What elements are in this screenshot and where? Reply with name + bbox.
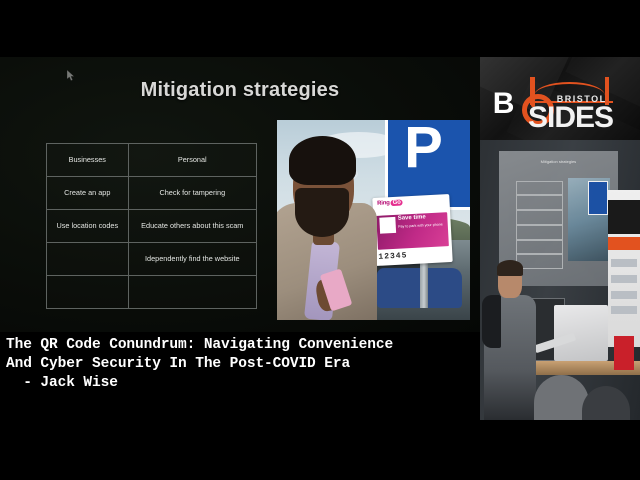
table-row: Use location codes Educate others about … (47, 210, 257, 243)
sponsor-banner (608, 190, 640, 347)
room-camera-view: Mitigation strategies (480, 140, 640, 420)
projected-table-row (516, 195, 563, 210)
table-row: Create an app Check for tampering (47, 177, 257, 210)
video-player-stage: Mitigation strategies Businesses Persona… (0, 0, 640, 480)
projected-parking-sign (588, 181, 608, 215)
caption-line-3: - Jack Wise (0, 374, 480, 393)
banner-row (611, 306, 638, 314)
table-header-personal: Personal (128, 144, 256, 177)
ringgo-brand: RingGo (377, 199, 403, 206)
mouse-cursor-icon (67, 70, 75, 81)
banner-row (611, 275, 638, 283)
ringgo-brand-suffix: Go (390, 199, 402, 206)
projected-table-row (516, 181, 563, 196)
projected-table (516, 181, 563, 270)
person-with-phone (277, 132, 377, 320)
talk-title-caption: The QR Code Conundrum: Navigating Conven… (0, 332, 480, 394)
table-cell (47, 243, 129, 276)
projected-table-row (516, 225, 563, 240)
table-row (47, 276, 257, 309)
caption-line-2: And Cyber Security In The Post-COVID Era (0, 355, 480, 374)
sticker-headline: Save time (397, 214, 425, 221)
table-cell: Create an app (47, 177, 129, 210)
qr-code-icon (379, 217, 395, 233)
ringgo-sticker: RingGo Save time Pay to park with your p… (372, 194, 453, 266)
projected-slide-title: Mitigation strategies (499, 159, 617, 164)
audience-head (534, 375, 588, 420)
projected-photo (568, 178, 611, 261)
banner-header (608, 200, 640, 234)
banner-row (611, 259, 638, 267)
logo-letter-b: B (493, 89, 515, 119)
projected-table-row (516, 210, 563, 225)
mitigation-strategies-table: Businesses Personal Create an app Check … (46, 143, 257, 309)
table-cell: Check for tampering (128, 177, 256, 210)
projected-table-row (516, 240, 563, 255)
table-row: Idependently find the website (47, 243, 257, 276)
table-header-row: Businesses Personal (47, 144, 257, 177)
parking-sign-letter: P (404, 120, 443, 177)
banner-row (611, 291, 638, 299)
sticker-location-code: 12345 (378, 251, 407, 262)
sticker-subtext: Pay to park with your phone (398, 222, 444, 229)
table-cell: Use location codes (47, 210, 129, 243)
table-header-businesses: Businesses (47, 144, 129, 177)
banner-accent-stripe (608, 237, 640, 250)
speaker-person (483, 263, 537, 420)
table-cell (47, 276, 129, 309)
table-cell: Idependently find the website (128, 243, 256, 276)
speaker-sleeve (482, 295, 500, 348)
ringgo-brand-text: Ring (377, 200, 390, 207)
speaker-hair (497, 260, 523, 276)
caption-line-1: The QR Code Conundrum: Navigating Conven… (0, 332, 480, 355)
hair (289, 136, 356, 185)
man-scanning-parking-sign-photo: P RingGo Save time Pay to park with your… (277, 120, 470, 320)
logo-sides-text: SIDES (528, 103, 613, 133)
laptop (554, 305, 608, 361)
sticker-body: Save time Pay to park with your phone (376, 212, 449, 250)
table-cell (128, 276, 256, 309)
table-cell: Educate others about this scam (128, 210, 256, 243)
slide-title: Mitigation strategies (0, 79, 480, 102)
bsides-bristol-logo: B BRISTOL SIDES (480, 57, 640, 140)
presentation-slide: Mitigation strategies Businesses Persona… (0, 57, 480, 333)
red-object (614, 336, 633, 370)
